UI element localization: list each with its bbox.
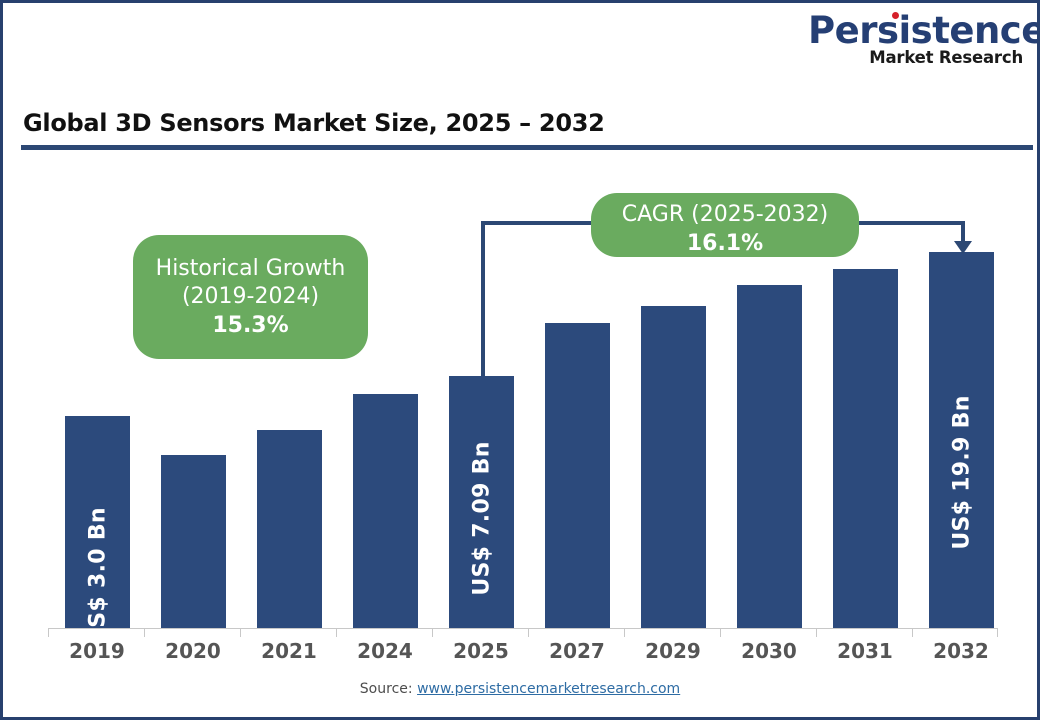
historical-growth-value: 15.3%	[133, 311, 368, 340]
bar-2024[interactable]	[353, 394, 418, 628]
logo-red-dot-icon	[892, 12, 899, 19]
bar-2020[interactable]	[161, 455, 226, 628]
title-divider	[21, 145, 1033, 150]
bar-value-label: US$ 19.9 Bn	[949, 395, 974, 549]
x-axis-line	[48, 628, 998, 629]
cagr-arrow-icon	[954, 241, 972, 254]
x-axis-label-2032: 2032	[914, 639, 1008, 663]
bar-2019[interactable]: US$ 3.0 Bn	[65, 416, 130, 628]
page-title: Global 3D Sensors Market Size, 2025 – 20…	[23, 109, 605, 137]
axis-tick	[432, 628, 433, 637]
company-logo: Persistence Market Research	[808, 11, 1023, 67]
x-axis-label-2025: 2025	[434, 639, 528, 663]
axis-tick	[144, 628, 145, 637]
bar-2027[interactable]	[545, 323, 610, 628]
source-link[interactable]: www.persistencemarketresearch.com	[417, 681, 680, 697]
bar-2025[interactable]: US$ 7.09 Bn	[449, 376, 514, 628]
bar-2021[interactable]	[257, 430, 322, 628]
x-axis-label-2021: 2021	[242, 639, 336, 663]
x-axis-label-2031: 2031	[818, 639, 912, 663]
source-prefix: Source:	[360, 681, 417, 697]
historical-growth-callout: Historical Growth (2019-2024) 15.3%	[133, 235, 368, 359]
x-axis-label-2030: 2030	[722, 639, 816, 663]
source-note: Source: www.persistencemarketresearch.co…	[3, 681, 1037, 697]
axis-tick	[336, 628, 337, 637]
logo-wordmark: Persistence	[808, 11, 1040, 51]
x-axis-label-2019: 2019	[50, 639, 144, 663]
bar-2030[interactable]	[737, 285, 802, 628]
bar-value-label: US$ 7.09 Bn	[469, 441, 494, 595]
chart-page: Persistence Market Research Global 3D Se…	[0, 0, 1040, 720]
cagr-connector-vertical	[481, 221, 485, 376]
cagr-value: 16.1%	[591, 229, 859, 258]
cagr-connector-drop	[961, 221, 965, 243]
cagr-line1: CAGR (2025-2032)	[591, 201, 859, 229]
axis-tick	[240, 628, 241, 637]
x-axis-label-2027: 2027	[530, 639, 624, 663]
historical-growth-line2: (2019-2024)	[133, 283, 368, 311]
bar-2031[interactable]	[833, 269, 898, 628]
x-axis-label-2020: 2020	[146, 639, 240, 663]
logo-wordmark-text: Persistence	[808, 9, 1040, 52]
axis-tick	[528, 628, 529, 637]
axis-tick	[720, 628, 721, 637]
axis-tick	[816, 628, 817, 637]
axis-tick	[912, 628, 913, 637]
axis-tick	[997, 628, 998, 637]
bar-value-label: US$ 3.0 Bn	[85, 507, 110, 646]
bar-2032[interactable]: US$ 19.9 Bn	[929, 252, 994, 628]
x-axis-label-2029: 2029	[626, 639, 720, 663]
axis-tick	[48, 628, 49, 637]
axis-tick	[624, 628, 625, 637]
x-axis-label-2024: 2024	[338, 639, 432, 663]
historical-growth-line1: Historical Growth	[133, 255, 368, 283]
bar-2029[interactable]	[641, 306, 706, 628]
cagr-callout: CAGR (2025-2032) 16.1%	[591, 193, 859, 257]
